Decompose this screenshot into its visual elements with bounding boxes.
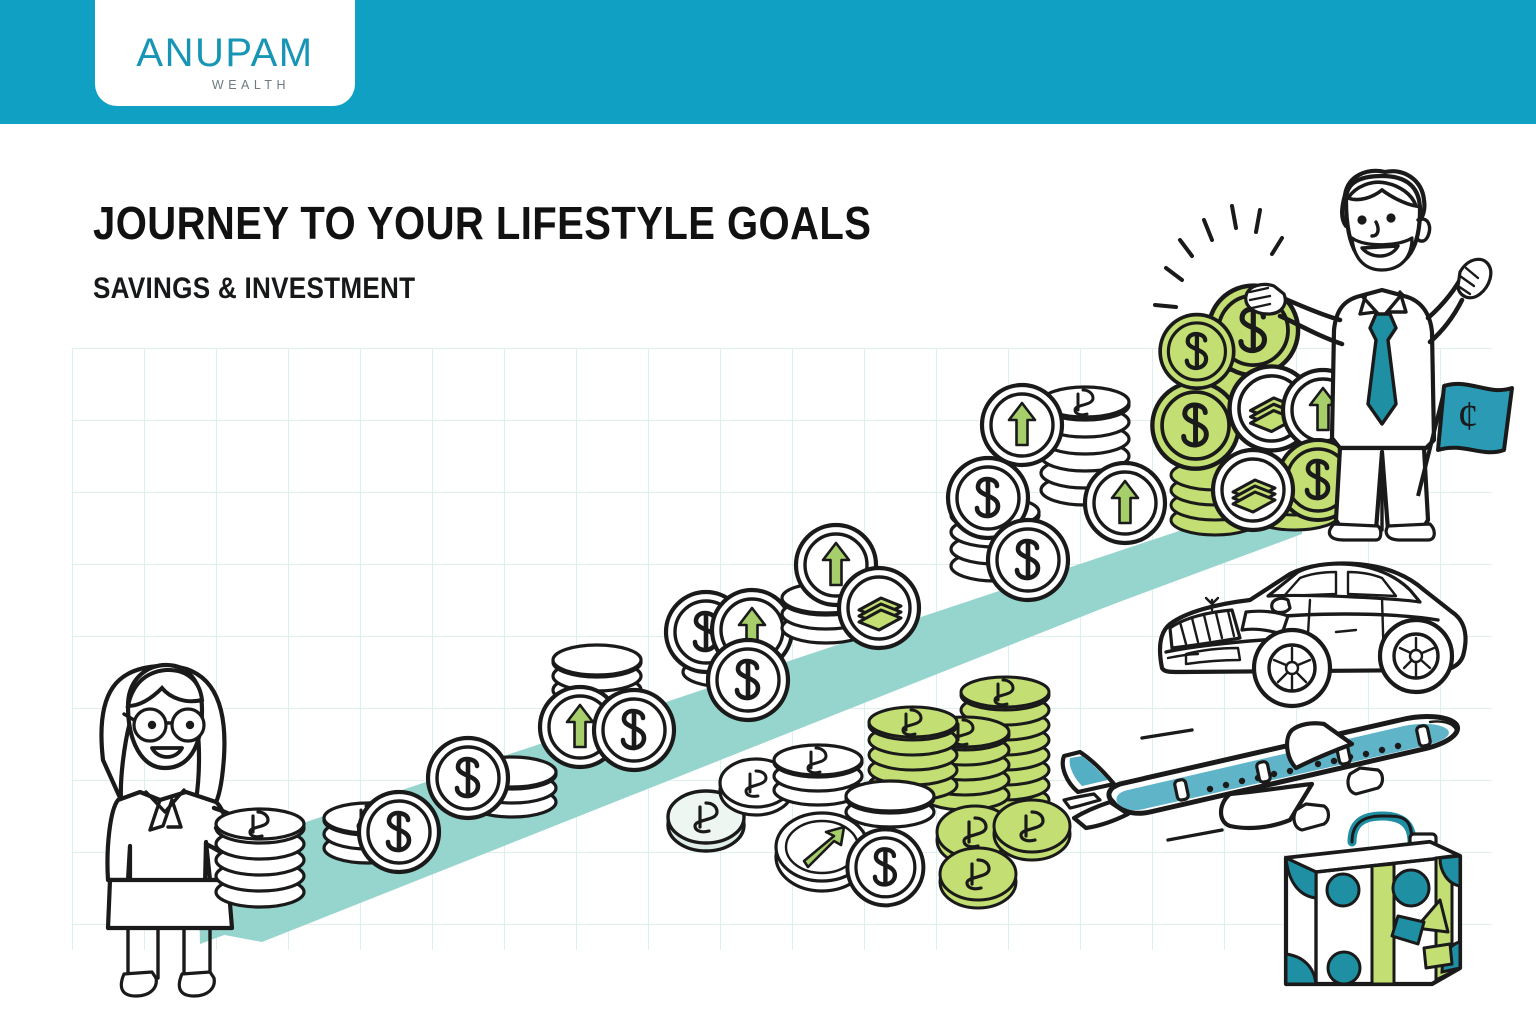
page-title: JOURNEY TO YOUR LIFESTYLE GOALS: [93, 196, 871, 250]
coin-group-stage5: [782, 525, 919, 648]
coin-stack-start: [216, 809, 304, 907]
infographic-canvas: .ink { fill:none; stroke:#1a1a1a; stroke…: [0, 0, 1536, 1024]
coin-group-stage1: [324, 792, 439, 872]
logo-tagline-text: WEALTH: [212, 78, 290, 92]
logo-wordmark-text: ANUPAM: [136, 33, 313, 73]
suitcase-icon: [1286, 816, 1460, 984]
luxury-car-icon: [1160, 563, 1465, 706]
scene-artwork: .ink { fill:none; stroke:#1a1a1a; stroke…: [0, 0, 1536, 1024]
coin-group-stage3: [540, 645, 674, 770]
brand-logo[interactable]: ANUPAM WEALTH: [95, 0, 355, 106]
page-subtitle: SAVINGS & INVESTMENT: [93, 272, 871, 306]
svg-text:¢: ¢: [1458, 394, 1479, 440]
title-block: JOURNEY TO YOUR LIFESTYLE GOALS SAVINGS …: [93, 196, 988, 306]
